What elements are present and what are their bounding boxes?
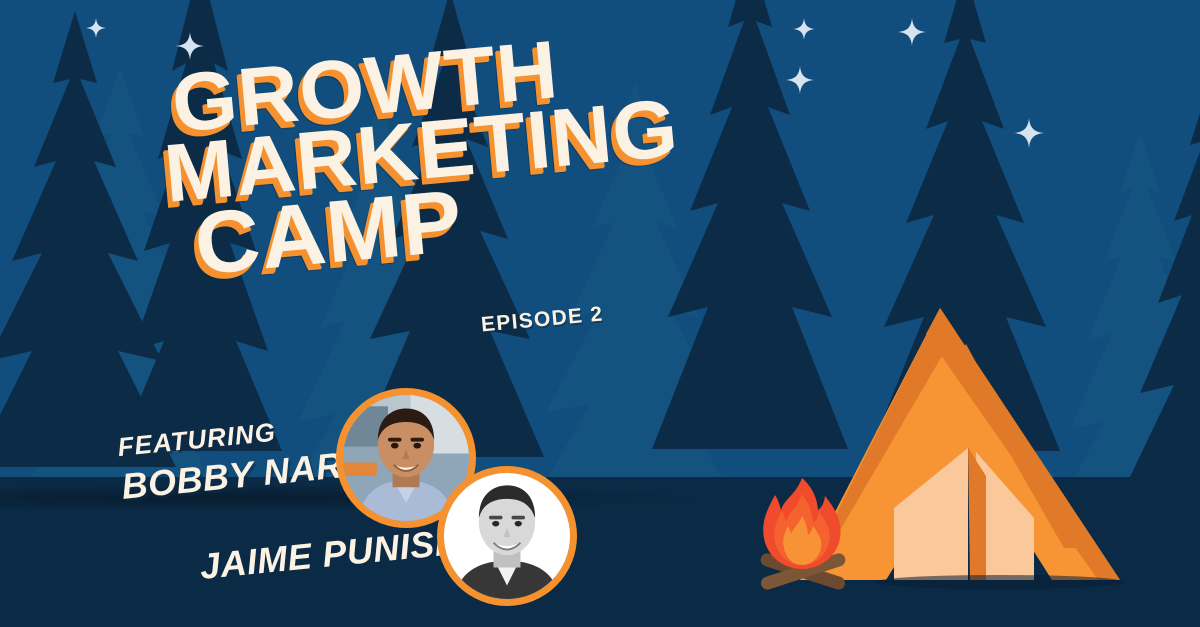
guest-avatar-2	[437, 466, 577, 606]
sparkle-star-icon-2	[176, 32, 204, 60]
sparkle-star-icon-3	[793, 18, 815, 40]
podcast-episode-poster: GROWTH MARKETING CAMP EPISODE 2 FEATURIN…	[0, 0, 1200, 627]
campfire-illustration	[755, 470, 850, 595]
sparkle-star-icon-1	[86, 18, 106, 38]
sparkle-star-icon-4	[786, 66, 814, 94]
guest-photo-bw	[444, 473, 570, 599]
sparkle-star-icon-6	[1014, 118, 1044, 148]
sparkle-star-icon-5	[898, 18, 926, 46]
